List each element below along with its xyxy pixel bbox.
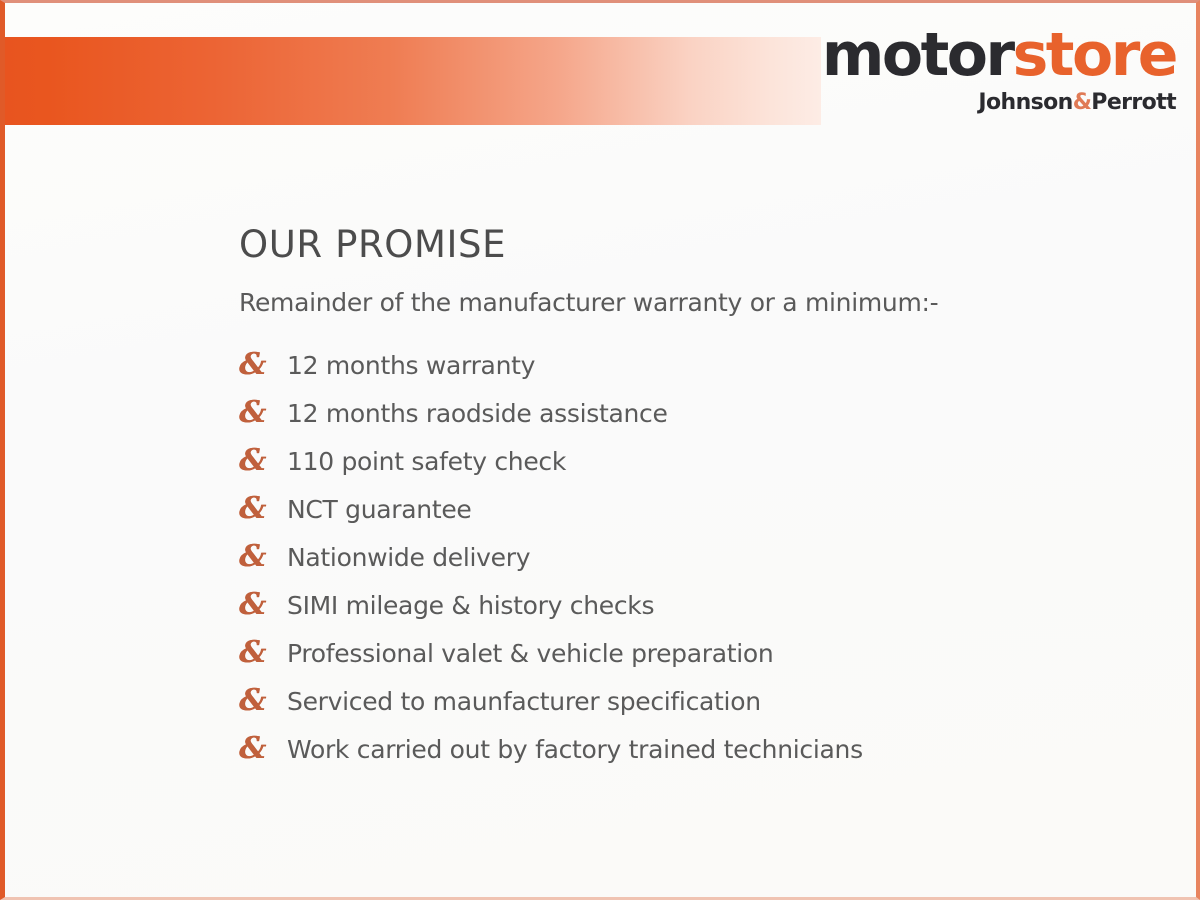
list-item-label: 12 months warranty <box>287 351 535 381</box>
ampersand-bullet-icon: & <box>239 734 287 764</box>
header-gradient-band <box>0 37 821 125</box>
list-item-label: Serviced to maunfacturer specification <box>287 687 761 717</box>
list-item-label: Professional valet & vehicle preparation <box>287 639 773 669</box>
list-item: & NCT guarantee <box>239 494 1179 542</box>
list-item: & Nationwide delivery <box>239 542 1179 590</box>
logo-word-store: store <box>1013 20 1176 90</box>
list-item: & SIMI mileage & history checks <box>239 590 1179 638</box>
slide-content: OUR PROMISE Remainder of the manufacture… <box>239 225 1179 782</box>
logo-wordmark: motorstore <box>822 25 1176 85</box>
list-item-label: SIMI mileage & history checks <box>287 591 654 621</box>
page-title: OUR PROMISE <box>239 225 1179 266</box>
slide-header: motorstore Johnson&Perrott <box>5 3 1196 131</box>
ampersand-bullet-icon: & <box>239 446 287 476</box>
ampersand-bullet-icon: & <box>239 494 287 524</box>
list-item: & 12 months raodside assistance <box>239 398 1179 446</box>
promise-slide: motorstore Johnson&Perrott OUR PROMISE R… <box>0 0 1200 900</box>
logo-subbrand: Johnson&Perrott <box>822 92 1176 114</box>
list-item: & Work carried out by factory trained te… <box>239 734 1179 782</box>
logo-subbrand-johnson: Johnson <box>978 90 1072 115</box>
list-item: & Professional valet & vehicle preparati… <box>239 638 1179 686</box>
ampersand-bullet-icon: & <box>239 686 287 716</box>
ampersand-bullet-icon: & <box>239 590 287 620</box>
ampersand-bullet-icon: & <box>239 638 287 668</box>
list-item-label: Work carried out by factory trained tech… <box>287 735 863 765</box>
logo-ampersand-icon: & <box>1073 90 1092 115</box>
list-item: & Serviced to maunfacturer specification <box>239 686 1179 734</box>
ampersand-bullet-icon: & <box>239 398 287 428</box>
ampersand-bullet-icon: & <box>239 542 287 572</box>
page-subtitle: Remainder of the manufacturer warranty o… <box>239 288 1179 318</box>
list-item: & 110 point safety check <box>239 446 1179 494</box>
ampersand-bullet-icon: & <box>239 350 287 380</box>
list-item-label: NCT guarantee <box>287 495 472 525</box>
brand-logo: motorstore Johnson&Perrott <box>822 25 1176 114</box>
logo-subbrand-perrott: Perrott <box>1091 90 1176 115</box>
list-item: & 12 months warranty <box>239 350 1179 398</box>
logo-word-motor: motor <box>822 20 1013 90</box>
list-item-label: 12 months raodside assistance <box>287 399 668 429</box>
promise-list: & 12 months warranty & 12 months raodsid… <box>239 350 1179 782</box>
list-item-label: 110 point safety check <box>287 447 566 477</box>
list-item-label: Nationwide delivery <box>287 543 530 573</box>
